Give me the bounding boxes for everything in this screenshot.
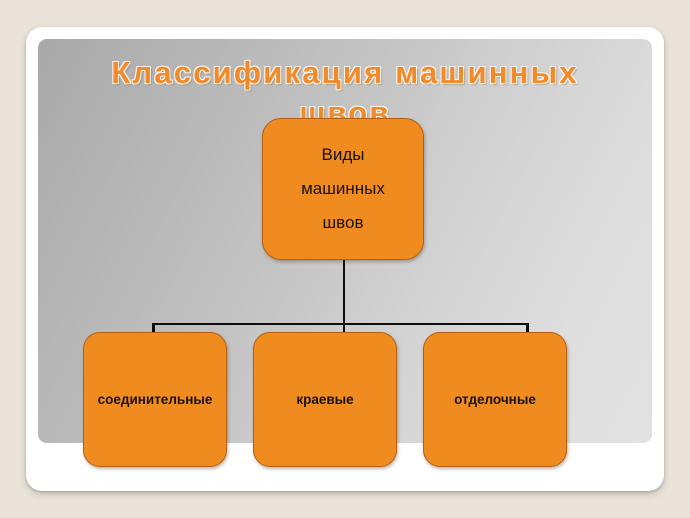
node-soedinitelnye-label: соединительные: [98, 392, 213, 408]
node-soedinitelnye[interactable]: соединительные: [83, 332, 227, 467]
node-kraevye-label: краевые: [296, 392, 353, 408]
connector-root-stem: [343, 260, 346, 325]
node-root-label: Виды машинных швов: [301, 138, 385, 240]
org-chart-diagram: Виды машинных швов соединительные краевы…: [26, 27, 664, 491]
connector-horizontal-bar: [152, 323, 529, 326]
node-otdelochnye[interactable]: отделочные: [423, 332, 567, 467]
node-otdelochnye-label: отделочные: [454, 392, 536, 408]
node-root[interactable]: Виды машинных швов: [262, 118, 424, 260]
node-kraevye[interactable]: краевые: [253, 332, 397, 467]
slide-card: Классификация машинных швов Виды машинны…: [26, 27, 664, 491]
